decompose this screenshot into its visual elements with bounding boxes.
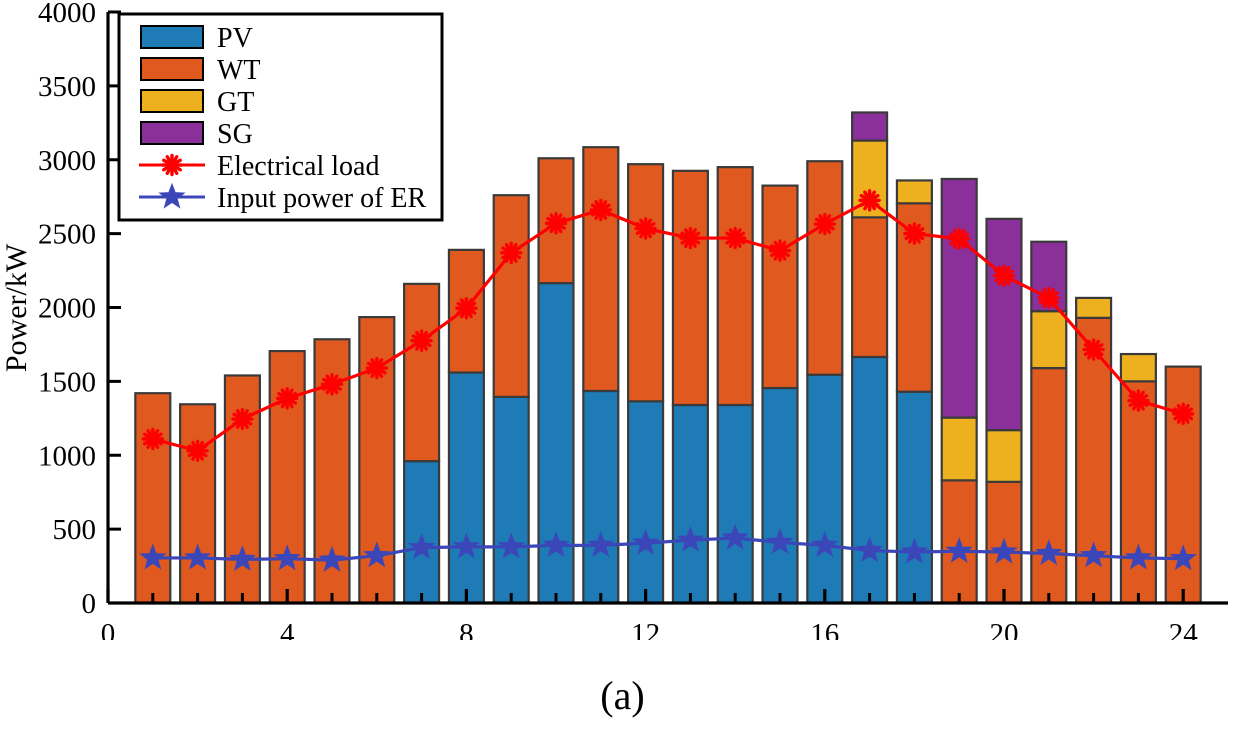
x-tick-label: 16 <box>810 618 839 640</box>
stacked-bar-chart: 0500100015002000250030003500400004812162… <box>0 0 1245 640</box>
y-axis-title: Power/kW <box>0 243 33 372</box>
bar-segment-wt <box>404 284 439 461</box>
bar-segment-sg <box>987 219 1022 430</box>
legend-label-electrical-load: Electrical load <box>217 151 379 182</box>
bar-segment-gt <box>987 430 1022 482</box>
y-tick-label: 2500 <box>38 219 96 251</box>
y-tick-label: 3500 <box>38 71 96 103</box>
x-tick-label: 4 <box>280 618 295 640</box>
bar-segment-gt <box>1031 311 1066 368</box>
x-tick-label: 0 <box>101 618 116 640</box>
legend-swatch-pv <box>141 26 203 48</box>
legend-swatch-gt <box>141 90 203 112</box>
x-tick-label: 24 <box>1169 618 1199 640</box>
figure-caption: (a) <box>0 672 1245 719</box>
bar-segment-pv <box>718 405 753 603</box>
x-tick-label: 12 <box>631 618 660 640</box>
line-electrical-load <box>153 200 1183 450</box>
bar-segment-gt <box>1121 354 1156 381</box>
y-tick-label: 2000 <box>38 293 96 325</box>
bar-segment-pv <box>673 405 708 603</box>
legend-label-sg: SG <box>217 119 253 150</box>
bar-segment-pv <box>897 392 932 603</box>
bar-segment-gt <box>1076 298 1111 318</box>
bar-segment-pv <box>539 283 574 603</box>
legend-label-pv: PV <box>217 23 253 54</box>
bar-segment-wt <box>583 147 618 391</box>
bar-segment-gt <box>942 418 977 481</box>
legend-swatch-wt <box>141 58 203 80</box>
bar-segment-pv <box>583 391 618 603</box>
line-input-power-of-er <box>153 538 1183 560</box>
y-tick-label: 1500 <box>38 366 96 398</box>
bar-segment-pv <box>404 461 439 603</box>
bar-segment-wt <box>852 217 887 357</box>
bar-segment-wt <box>763 186 798 388</box>
chart-plot-area: 0500100015002000250030003500400004812162… <box>0 0 1245 640</box>
legend-label-input-power-of-er: Input power of ER <box>217 183 427 214</box>
bar-segment-wt <box>1031 368 1066 603</box>
chart-legend: PVWTGTSGElectrical loadInput power of ER <box>119 14 442 220</box>
y-tick-label: 1000 <box>38 440 96 472</box>
legend-label-gt: GT <box>217 87 254 118</box>
bar-segment-wt <box>494 195 529 397</box>
bar-segment-wt <box>718 167 753 405</box>
bar-segment-wt <box>135 393 170 603</box>
bar-segment-wt <box>180 404 215 603</box>
figure-container: 0500100015002000250030003500400004812162… <box>0 0 1245 749</box>
x-tick-label: 20 <box>990 618 1019 640</box>
legend-label-wt: WT <box>217 55 261 86</box>
legend-swatch-sg <box>141 122 203 144</box>
y-tick-label: 3000 <box>38 145 96 177</box>
bar-segment-pv <box>494 397 529 603</box>
bar-segment-pv <box>763 388 798 603</box>
y-tick-label: 500 <box>53 514 97 546</box>
bar-segment-sg <box>852 112 887 140</box>
bar-segment-pv <box>628 401 663 603</box>
bar-segment-pv <box>852 357 887 603</box>
bar-segment-sg <box>942 179 977 418</box>
x-tick-label: 8 <box>459 618 474 640</box>
bar-segment-wt <box>1166 367 1201 603</box>
bar-segment-gt <box>897 180 932 203</box>
bar-segment-wt <box>628 164 663 401</box>
y-tick-label: 4000 <box>38 0 96 29</box>
bar-segment-pv <box>449 373 484 603</box>
bar-segment-wt <box>673 171 708 405</box>
bar-segment-pv <box>807 375 842 603</box>
bar-segment-wt <box>807 161 842 374</box>
bar-segment-wt <box>1121 381 1156 603</box>
y-tick-label: 0 <box>82 588 97 620</box>
